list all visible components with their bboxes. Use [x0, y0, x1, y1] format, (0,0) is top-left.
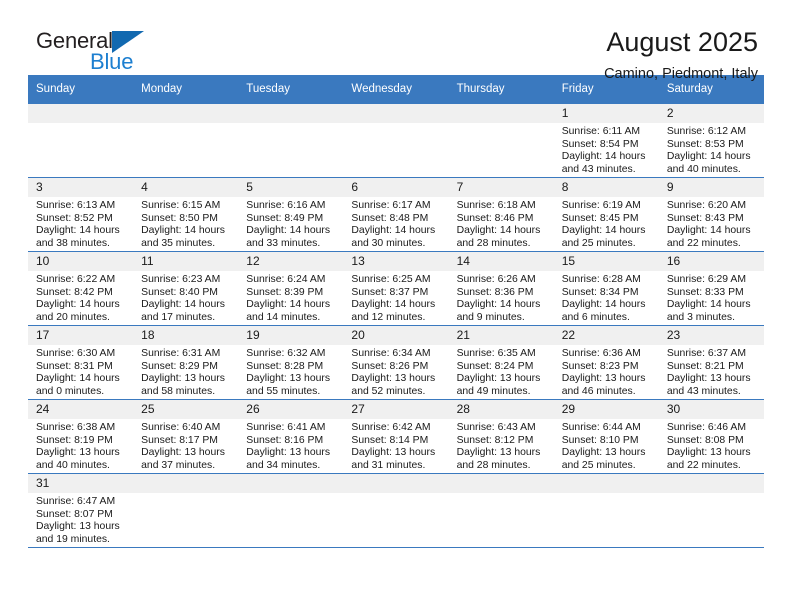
day-number: 19 — [238, 326, 343, 345]
sunrise-time: Sunrise: 6:11 AM — [562, 126, 655, 139]
day-cell-empty — [659, 474, 764, 548]
weekday-header-wednesday: Wednesday — [343, 75, 448, 104]
day-details: Sunrise: 6:34 AMSunset: 8:26 PMDaylight:… — [343, 345, 448, 398]
day-number: 13 — [343, 252, 448, 271]
daylight-duration-line2: and 28 minutes. — [457, 460, 550, 473]
day-number: 6 — [343, 178, 448, 197]
daylight-duration-line2: and 40 minutes. — [667, 164, 760, 177]
daylight-duration-line1: Daylight: 14 hours — [667, 299, 760, 312]
day-cell-empty — [28, 104, 133, 178]
day-number: 24 — [28, 400, 133, 419]
daylight-duration-line2: and 31 minutes. — [351, 460, 444, 473]
sunrise-time: Sunrise: 6:38 AM — [36, 422, 129, 435]
sunrise-time: Sunrise: 6:23 AM — [141, 274, 234, 287]
day-cell[interactable]: 11Sunrise: 6:23 AMSunset: 8:40 PMDayligh… — [133, 252, 238, 326]
daylight-duration-line1: Daylight: 14 hours — [562, 225, 655, 238]
calendar-week-row: 24Sunrise: 6:38 AMSunset: 8:19 PMDayligh… — [28, 400, 764, 474]
daylight-duration-line2: and 19 minutes. — [36, 534, 129, 547]
day-cell[interactable]: 18Sunrise: 6:31 AMSunset: 8:29 PMDayligh… — [133, 326, 238, 400]
day-number — [449, 104, 554, 123]
day-cell[interactable]: 29Sunrise: 6:44 AMSunset: 8:10 PMDayligh… — [554, 400, 659, 474]
sunrise-time: Sunrise: 6:22 AM — [36, 274, 129, 287]
title-block: August 2025 Camino, Piedmont, Italy — [604, 28, 758, 82]
sunset-time: Sunset: 8:34 PM — [562, 287, 655, 300]
daylight-duration-line2: and 46 minutes. — [562, 386, 655, 399]
day-cell[interactable]: 22Sunrise: 6:36 AMSunset: 8:23 PMDayligh… — [554, 326, 659, 400]
day-number: 2 — [659, 104, 764, 123]
day-details: Sunrise: 6:15 AMSunset: 8:50 PMDaylight:… — [133, 197, 238, 250]
sunrise-time: Sunrise: 6:35 AM — [457, 348, 550, 361]
day-number: 18 — [133, 326, 238, 345]
day-cell[interactable]: 15Sunrise: 6:28 AMSunset: 8:34 PMDayligh… — [554, 252, 659, 326]
daylight-duration-line2: and 38 minutes. — [36, 238, 129, 251]
day-details: Sunrise: 6:28 AMSunset: 8:34 PMDaylight:… — [554, 271, 659, 324]
day-number: 23 — [659, 326, 764, 345]
sunrise-time: Sunrise: 6:28 AM — [562, 274, 655, 287]
day-cell-empty — [133, 104, 238, 178]
daylight-duration-line2: and 6 minutes. — [562, 312, 655, 325]
day-number — [28, 104, 133, 123]
daylight-duration-line1: Daylight: 13 hours — [246, 447, 339, 460]
daylight-duration-line2: and 20 minutes. — [36, 312, 129, 325]
daylight-duration-line2: and 3 minutes. — [667, 312, 760, 325]
daylight-duration-line2: and 22 minutes. — [667, 238, 760, 251]
day-cell[interactable]: 16Sunrise: 6:29 AMSunset: 8:33 PMDayligh… — [659, 252, 764, 326]
day-details: Sunrise: 6:25 AMSunset: 8:37 PMDaylight:… — [343, 271, 448, 324]
day-details: Sunrise: 6:36 AMSunset: 8:23 PMDaylight:… — [554, 345, 659, 398]
day-cell[interactable]: 5Sunrise: 6:16 AMSunset: 8:49 PMDaylight… — [238, 178, 343, 252]
day-details: Sunrise: 6:20 AMSunset: 8:43 PMDaylight:… — [659, 197, 764, 250]
day-number: 26 — [238, 400, 343, 419]
daylight-duration-line1: Daylight: 14 hours — [667, 151, 760, 164]
daylight-duration-line1: Daylight: 13 hours — [141, 373, 234, 386]
daylight-duration-line1: Daylight: 14 hours — [36, 299, 129, 312]
sunset-time: Sunset: 8:26 PM — [351, 361, 444, 374]
calendar-table: Sunday Monday Tuesday Wednesday Thursday… — [28, 75, 764, 547]
calendar-page: General Blue August 2025 Camino, Piedmon… — [0, 0, 792, 612]
day-number: 12 — [238, 252, 343, 271]
sunrise-time: Sunrise: 6:41 AM — [246, 422, 339, 435]
day-cell[interactable]: 7Sunrise: 6:18 AMSunset: 8:46 PMDaylight… — [449, 178, 554, 252]
daylight-duration-line2: and 9 minutes. — [457, 312, 550, 325]
daylight-duration-line2: and 49 minutes. — [457, 386, 550, 399]
sunrise-time: Sunrise: 6:47 AM — [36, 496, 129, 509]
day-details: Sunrise: 6:11 AMSunset: 8:54 PMDaylight:… — [554, 123, 659, 176]
day-details: Sunrise: 6:43 AMSunset: 8:12 PMDaylight:… — [449, 419, 554, 472]
day-cell[interactable]: 12Sunrise: 6:24 AMSunset: 8:39 PMDayligh… — [238, 252, 343, 326]
day-number — [659, 474, 764, 493]
daylight-duration-line2: and 28 minutes. — [457, 238, 550, 251]
sunrise-time: Sunrise: 6:29 AM — [667, 274, 760, 287]
day-details: Sunrise: 6:12 AMSunset: 8:53 PMDaylight:… — [659, 123, 764, 176]
day-number: 17 — [28, 326, 133, 345]
day-number: 29 — [554, 400, 659, 419]
day-number: 8 — [554, 178, 659, 197]
day-number — [343, 474, 448, 493]
daylight-duration-line1: Daylight: 13 hours — [562, 447, 655, 460]
daylight-duration-line1: Daylight: 13 hours — [351, 447, 444, 460]
daylight-duration-line1: Daylight: 14 hours — [457, 225, 550, 238]
day-cell[interactable]: 31Sunrise: 6:47 AMSunset: 8:07 PMDayligh… — [28, 474, 133, 548]
daylight-duration-line1: Daylight: 13 hours — [457, 447, 550, 460]
daylight-duration-line2: and 25 minutes. — [562, 460, 655, 473]
sunset-time: Sunset: 8:12 PM — [457, 435, 550, 448]
day-details: Sunrise: 6:46 AMSunset: 8:08 PMDaylight:… — [659, 419, 764, 472]
sunrise-time: Sunrise: 6:44 AM — [562, 422, 655, 435]
daylight-duration-line2: and 58 minutes. — [141, 386, 234, 399]
day-cell-empty — [343, 104, 448, 178]
day-cell-empty — [554, 474, 659, 548]
sunset-time: Sunset: 8:36 PM — [457, 287, 550, 300]
daylight-duration-line1: Daylight: 14 hours — [351, 299, 444, 312]
day-cell[interactable]: 27Sunrise: 6:42 AMSunset: 8:14 PMDayligh… — [343, 400, 448, 474]
sunset-time: Sunset: 8:08 PM — [667, 435, 760, 448]
weekday-header-monday: Monday — [133, 75, 238, 104]
day-number: 15 — [554, 252, 659, 271]
day-cell[interactable]: 17Sunrise: 6:30 AMSunset: 8:31 PMDayligh… — [28, 326, 133, 400]
daylight-duration-line1: Daylight: 14 hours — [246, 225, 339, 238]
sunset-time: Sunset: 8:24 PM — [457, 361, 550, 374]
day-cell[interactable]: 3Sunrise: 6:13 AMSunset: 8:52 PMDaylight… — [28, 178, 133, 252]
day-number: 28 — [449, 400, 554, 419]
day-cell[interactable]: 19Sunrise: 6:32 AMSunset: 8:28 PMDayligh… — [238, 326, 343, 400]
day-number: 30 — [659, 400, 764, 419]
sunset-time: Sunset: 8:16 PM — [246, 435, 339, 448]
sunset-time: Sunset: 8:07 PM — [36, 509, 129, 522]
calendar-week-row: 31Sunrise: 6:47 AMSunset: 8:07 PMDayligh… — [28, 474, 764, 548]
daylight-duration-line2: and 52 minutes. — [351, 386, 444, 399]
daylight-duration-line1: Daylight: 14 hours — [141, 225, 234, 238]
day-cell[interactable]: 10Sunrise: 6:22 AMSunset: 8:42 PMDayligh… — [28, 252, 133, 326]
day-cell[interactable]: 13Sunrise: 6:25 AMSunset: 8:37 PMDayligh… — [343, 252, 448, 326]
sunrise-time: Sunrise: 6:15 AM — [141, 200, 234, 213]
weekday-header-tuesday: Tuesday — [238, 75, 343, 104]
sunrise-time: Sunrise: 6:20 AM — [667, 200, 760, 213]
sunset-time: Sunset: 8:43 PM — [667, 213, 760, 226]
sunset-time: Sunset: 8:40 PM — [141, 287, 234, 300]
day-number — [554, 474, 659, 493]
sunset-time: Sunset: 8:31 PM — [36, 361, 129, 374]
sunrise-time: Sunrise: 6:36 AM — [562, 348, 655, 361]
calendar-week-row: 3Sunrise: 6:13 AMSunset: 8:52 PMDaylight… — [28, 178, 764, 252]
sunset-time: Sunset: 8:21 PM — [667, 361, 760, 374]
daylight-duration-line2: and 40 minutes. — [36, 460, 129, 473]
daylight-duration-line2: and 0 minutes. — [36, 386, 129, 399]
location-subtitle: Camino, Piedmont, Italy — [604, 66, 758, 82]
logo-text-blue: Blue — [90, 51, 133, 73]
daylight-duration-line1: Daylight: 13 hours — [667, 447, 760, 460]
general-blue-logo[interactable]: General Blue — [36, 28, 166, 76]
day-details: Sunrise: 6:30 AMSunset: 8:31 PMDaylight:… — [28, 345, 133, 398]
sunrise-time: Sunrise: 6:17 AM — [351, 200, 444, 213]
daylight-duration-line1: Daylight: 13 hours — [562, 373, 655, 386]
daylight-duration-line1: Daylight: 14 hours — [667, 225, 760, 238]
daylight-duration-line2: and 25 minutes. — [562, 238, 655, 251]
sunrise-time: Sunrise: 6:40 AM — [141, 422, 234, 435]
day-number: 20 — [343, 326, 448, 345]
day-details: Sunrise: 6:38 AMSunset: 8:19 PMDaylight:… — [28, 419, 133, 472]
day-number: 11 — [133, 252, 238, 271]
sunset-time: Sunset: 8:10 PM — [562, 435, 655, 448]
day-number — [238, 474, 343, 493]
day-details: Sunrise: 6:26 AMSunset: 8:36 PMDaylight:… — [449, 271, 554, 324]
day-cell-empty — [238, 474, 343, 548]
day-details: Sunrise: 6:44 AMSunset: 8:10 PMDaylight:… — [554, 419, 659, 472]
day-number: 22 — [554, 326, 659, 345]
sunrise-time: Sunrise: 6:26 AM — [457, 274, 550, 287]
sunset-time: Sunset: 8:45 PM — [562, 213, 655, 226]
sunrise-time: Sunrise: 6:19 AM — [562, 200, 655, 213]
sunrise-time: Sunrise: 6:46 AM — [667, 422, 760, 435]
daylight-duration-line1: Daylight: 13 hours — [351, 373, 444, 386]
sunset-time: Sunset: 8:37 PM — [351, 287, 444, 300]
day-cell-empty — [449, 104, 554, 178]
day-number: 27 — [343, 400, 448, 419]
page-title: August 2025 — [604, 28, 758, 58]
sunrise-time: Sunrise: 6:25 AM — [351, 274, 444, 287]
sunset-time: Sunset: 8:17 PM — [141, 435, 234, 448]
calendar-week-row: 1Sunrise: 6:11 AMSunset: 8:54 PMDaylight… — [28, 104, 764, 178]
daylight-duration-line1: Daylight: 14 hours — [36, 225, 129, 238]
day-details: Sunrise: 6:17 AMSunset: 8:48 PMDaylight:… — [343, 197, 448, 250]
day-number: 5 — [238, 178, 343, 197]
weekday-header-thursday: Thursday — [449, 75, 554, 104]
daylight-duration-line1: Daylight: 14 hours — [562, 151, 655, 164]
sunrise-time: Sunrise: 6:13 AM — [36, 200, 129, 213]
day-cell[interactable]: 20Sunrise: 6:34 AMSunset: 8:26 PMDayligh… — [343, 326, 448, 400]
daylight-duration-line2: and 35 minutes. — [141, 238, 234, 251]
day-number: 14 — [449, 252, 554, 271]
day-cell[interactable]: 21Sunrise: 6:35 AMSunset: 8:24 PMDayligh… — [449, 326, 554, 400]
daylight-duration-line1: Daylight: 14 hours — [246, 299, 339, 312]
sunset-time: Sunset: 8:39 PM — [246, 287, 339, 300]
daylight-duration-line1: Daylight: 13 hours — [36, 447, 129, 460]
day-number: 21 — [449, 326, 554, 345]
day-cell[interactable]: 30Sunrise: 6:46 AMSunset: 8:08 PMDayligh… — [659, 400, 764, 474]
calendar-bottom-rule — [28, 547, 764, 548]
sunrise-time: Sunrise: 6:24 AM — [246, 274, 339, 287]
sunset-time: Sunset: 8:48 PM — [351, 213, 444, 226]
daylight-duration-line1: Daylight: 13 hours — [246, 373, 339, 386]
day-number — [343, 104, 448, 123]
calendar-week-row: 10Sunrise: 6:22 AMSunset: 8:42 PMDayligh… — [28, 252, 764, 326]
day-cell[interactable]: 9Sunrise: 6:20 AMSunset: 8:43 PMDaylight… — [659, 178, 764, 252]
sunset-time: Sunset: 8:23 PM — [562, 361, 655, 374]
daylight-duration-line2: and 43 minutes. — [562, 164, 655, 177]
sunrise-time: Sunrise: 6:16 AM — [246, 200, 339, 213]
daylight-duration-line2: and 43 minutes. — [667, 386, 760, 399]
sunrise-time: Sunrise: 6:43 AM — [457, 422, 550, 435]
daylight-duration-line1: Daylight: 14 hours — [36, 373, 129, 386]
sunset-time: Sunset: 8:28 PM — [246, 361, 339, 374]
day-details: Sunrise: 6:47 AMSunset: 8:07 PMDaylight:… — [28, 493, 133, 546]
daylight-duration-line1: Daylight: 14 hours — [457, 299, 550, 312]
day-details: Sunrise: 6:37 AMSunset: 8:21 PMDaylight:… — [659, 345, 764, 398]
day-details: Sunrise: 6:42 AMSunset: 8:14 PMDaylight:… — [343, 419, 448, 472]
sunset-time: Sunset: 8:33 PM — [667, 287, 760, 300]
day-details: Sunrise: 6:23 AMSunset: 8:40 PMDaylight:… — [133, 271, 238, 324]
day-number: 9 — [659, 178, 764, 197]
day-details: Sunrise: 6:31 AMSunset: 8:29 PMDaylight:… — [133, 345, 238, 398]
day-number: 1 — [554, 104, 659, 123]
day-details: Sunrise: 6:29 AMSunset: 8:33 PMDaylight:… — [659, 271, 764, 324]
day-number: 16 — [659, 252, 764, 271]
day-number: 7 — [449, 178, 554, 197]
day-number — [133, 104, 238, 123]
day-cell-empty — [133, 474, 238, 548]
sunrise-time: Sunrise: 6:42 AM — [351, 422, 444, 435]
day-details: Sunrise: 6:32 AMSunset: 8:28 PMDaylight:… — [238, 345, 343, 398]
sunrise-time: Sunrise: 6:12 AM — [667, 126, 760, 139]
day-details: Sunrise: 6:18 AMSunset: 8:46 PMDaylight:… — [449, 197, 554, 250]
daylight-duration-line2: and 14 minutes. — [246, 312, 339, 325]
day-cell[interactable]: 6Sunrise: 6:17 AMSunset: 8:48 PMDaylight… — [343, 178, 448, 252]
day-number: 4 — [133, 178, 238, 197]
day-cell[interactable]: 1Sunrise: 6:11 AMSunset: 8:54 PMDaylight… — [554, 104, 659, 178]
day-cell[interactable]: 25Sunrise: 6:40 AMSunset: 8:17 PMDayligh… — [133, 400, 238, 474]
sunset-time: Sunset: 8:46 PM — [457, 213, 550, 226]
sunset-time: Sunset: 8:50 PM — [141, 213, 234, 226]
day-details: Sunrise: 6:24 AMSunset: 8:39 PMDaylight:… — [238, 271, 343, 324]
sunset-time: Sunset: 8:52 PM — [36, 213, 129, 226]
day-number: 3 — [28, 178, 133, 197]
calendar-week-row: 17Sunrise: 6:30 AMSunset: 8:31 PMDayligh… — [28, 326, 764, 400]
day-number: 10 — [28, 252, 133, 271]
day-number: 25 — [133, 400, 238, 419]
daylight-duration-line1: Daylight: 14 hours — [351, 225, 444, 238]
day-cell-empty — [238, 104, 343, 178]
daylight-duration-line2: and 33 minutes. — [246, 238, 339, 251]
daylight-duration-line2: and 30 minutes. — [351, 238, 444, 251]
day-cell[interactable]: 2Sunrise: 6:12 AMSunset: 8:53 PMDaylight… — [659, 104, 764, 178]
sunset-time: Sunset: 8:19 PM — [36, 435, 129, 448]
day-details: Sunrise: 6:22 AMSunset: 8:42 PMDaylight:… — [28, 271, 133, 324]
day-number — [449, 474, 554, 493]
sunrise-time: Sunrise: 6:37 AM — [667, 348, 760, 361]
daylight-duration-line2: and 55 minutes. — [246, 386, 339, 399]
daylight-duration-line2: and 22 minutes. — [667, 460, 760, 473]
day-cell-empty — [343, 474, 448, 548]
day-cell-empty — [449, 474, 554, 548]
weekday-header-sunday: Sunday — [28, 75, 133, 104]
daylight-duration-line1: Daylight: 14 hours — [141, 299, 234, 312]
day-cell[interactable]: 26Sunrise: 6:41 AMSunset: 8:16 PMDayligh… — [238, 400, 343, 474]
sunrise-time: Sunrise: 6:34 AM — [351, 348, 444, 361]
day-details: Sunrise: 6:19 AMSunset: 8:45 PMDaylight:… — [554, 197, 659, 250]
day-cell[interactable]: 4Sunrise: 6:15 AMSunset: 8:50 PMDaylight… — [133, 178, 238, 252]
day-cell[interactable]: 28Sunrise: 6:43 AMSunset: 8:12 PMDayligh… — [449, 400, 554, 474]
day-details: Sunrise: 6:35 AMSunset: 8:24 PMDaylight:… — [449, 345, 554, 398]
page-header: General Blue August 2025 Camino, Piedmon… — [0, 0, 792, 75]
daylight-duration-line1: Daylight: 13 hours — [36, 521, 129, 534]
sunset-time: Sunset: 8:42 PM — [36, 287, 129, 300]
daylight-duration-line1: Daylight: 14 hours — [562, 299, 655, 312]
daylight-duration-line2: and 37 minutes. — [141, 460, 234, 473]
sunrise-time: Sunrise: 6:32 AM — [246, 348, 339, 361]
day-number — [133, 474, 238, 493]
daylight-duration-line1: Daylight: 13 hours — [457, 373, 550, 386]
sunset-time: Sunset: 8:53 PM — [667, 139, 760, 152]
daylight-duration-line2: and 34 minutes. — [246, 460, 339, 473]
daylight-duration-line1: Daylight: 13 hours — [141, 447, 234, 460]
sunrise-time: Sunrise: 6:30 AM — [36, 348, 129, 361]
day-cell[interactable]: 8Sunrise: 6:19 AMSunset: 8:45 PMDaylight… — [554, 178, 659, 252]
day-details: Sunrise: 6:41 AMSunset: 8:16 PMDaylight:… — [238, 419, 343, 472]
day-details: Sunrise: 6:40 AMSunset: 8:17 PMDaylight:… — [133, 419, 238, 472]
day-cell[interactable]: 24Sunrise: 6:38 AMSunset: 8:19 PMDayligh… — [28, 400, 133, 474]
sunset-time: Sunset: 8:49 PM — [246, 213, 339, 226]
sunrise-time: Sunrise: 6:31 AM — [141, 348, 234, 361]
daylight-duration-line2: and 12 minutes. — [351, 312, 444, 325]
day-number — [238, 104, 343, 123]
daylight-duration-line1: Daylight: 13 hours — [667, 373, 760, 386]
daylight-duration-line2: and 17 minutes. — [141, 312, 234, 325]
sunset-time: Sunset: 8:14 PM — [351, 435, 444, 448]
sunset-time: Sunset: 8:54 PM — [562, 139, 655, 152]
day-cell[interactable]: 23Sunrise: 6:37 AMSunset: 8:21 PMDayligh… — [659, 326, 764, 400]
day-details: Sunrise: 6:16 AMSunset: 8:49 PMDaylight:… — [238, 197, 343, 250]
sunset-time: Sunset: 8:29 PM — [141, 361, 234, 374]
sunrise-time: Sunrise: 6:18 AM — [457, 200, 550, 213]
calendar-body: 1Sunrise: 6:11 AMSunset: 8:54 PMDaylight… — [28, 104, 764, 548]
day-cell[interactable]: 14Sunrise: 6:26 AMSunset: 8:36 PMDayligh… — [449, 252, 554, 326]
day-number: 31 — [28, 474, 133, 493]
day-details: Sunrise: 6:13 AMSunset: 8:52 PMDaylight:… — [28, 197, 133, 250]
